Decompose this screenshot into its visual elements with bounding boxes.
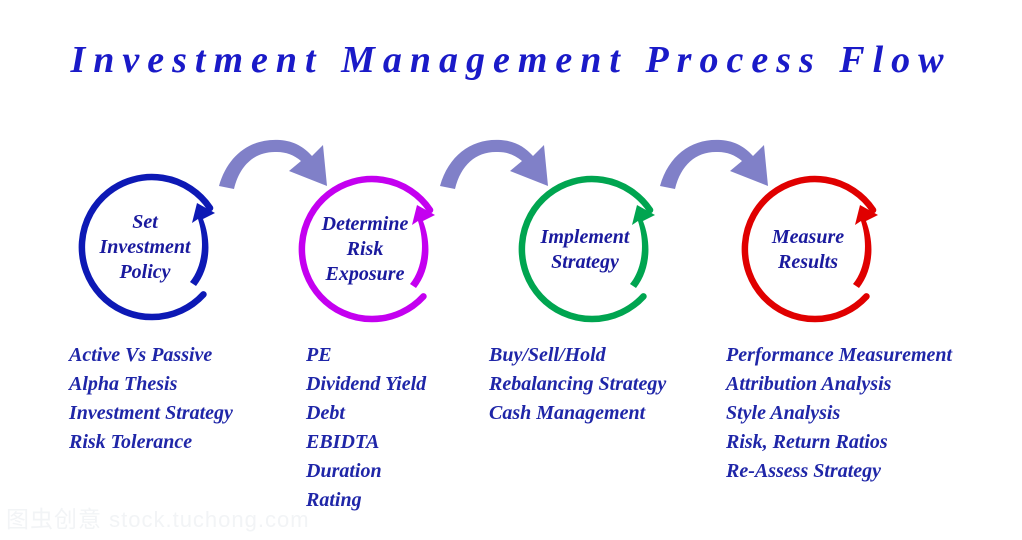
list-item: PE bbox=[306, 341, 426, 370]
stage-ring-1 bbox=[75, 170, 215, 322]
list-item: Style Analysis bbox=[726, 399, 952, 428]
list-item: Dividend Yield bbox=[306, 370, 426, 399]
list-item: EBIDTA bbox=[306, 428, 426, 457]
detail-list-determine-risk-exposure: PE Dividend Yield Debt EBIDTA Duration R… bbox=[306, 341, 426, 515]
stage-ring-arrowhead-3 bbox=[630, 205, 655, 288]
list-item: Rebalancing Strategy bbox=[489, 370, 666, 399]
list-item: Active Vs Passive bbox=[69, 341, 233, 370]
stage-ring-2 bbox=[295, 172, 435, 324]
list-item: Alpha Thesis bbox=[69, 370, 233, 399]
list-item: Risk Tolerance bbox=[69, 428, 233, 457]
list-item: Debt bbox=[306, 399, 426, 428]
stage-circle-implement-strategy[interactable] bbox=[515, 172, 655, 324]
stage-ring-arrowhead-4 bbox=[853, 205, 878, 288]
list-item: Risk, Return Ratios bbox=[726, 428, 952, 457]
detail-list-implement-strategy: Buy/Sell/Hold Rebalancing Strategy Cash … bbox=[489, 341, 666, 428]
list-item: Duration bbox=[306, 457, 426, 486]
stage-ring-3 bbox=[515, 172, 655, 324]
watermark-cn: 图虫创意 bbox=[6, 506, 102, 532]
list-item: Re-Assess Strategy bbox=[726, 457, 952, 486]
list-item: Performance Measurement bbox=[726, 341, 952, 370]
stage-circle-measure-results[interactable] bbox=[738, 172, 878, 324]
stage-circle-set-investment-policy[interactable] bbox=[75, 170, 215, 322]
list-item: Attribution Analysis bbox=[726, 370, 952, 399]
detail-list-set-investment-policy: Active Vs Passive Alpha Thesis Investmen… bbox=[69, 341, 233, 457]
stage-ring-arrowhead-2 bbox=[410, 205, 435, 288]
arrow-3-to-4 bbox=[660, 140, 768, 189]
stage-ring-4 bbox=[738, 172, 878, 324]
list-item: Buy/Sell/Hold bbox=[489, 341, 666, 370]
stage-ring-arrowhead-1 bbox=[190, 203, 215, 286]
stage-circle-determine-risk-exposure[interactable] bbox=[295, 172, 435, 324]
arrow-1-to-2 bbox=[219, 140, 327, 189]
list-item: Rating bbox=[306, 486, 426, 515]
watermark-en: stock.tuchong.com bbox=[109, 507, 309, 532]
list-item: Cash Management bbox=[489, 399, 666, 428]
watermark: 图虫创意 stock.tuchong.com bbox=[6, 500, 310, 534]
detail-list-measure-results: Performance Measurement Attribution Anal… bbox=[726, 341, 952, 486]
list-item: Investment Strategy bbox=[69, 399, 233, 428]
arrow-2-to-3 bbox=[440, 140, 548, 189]
